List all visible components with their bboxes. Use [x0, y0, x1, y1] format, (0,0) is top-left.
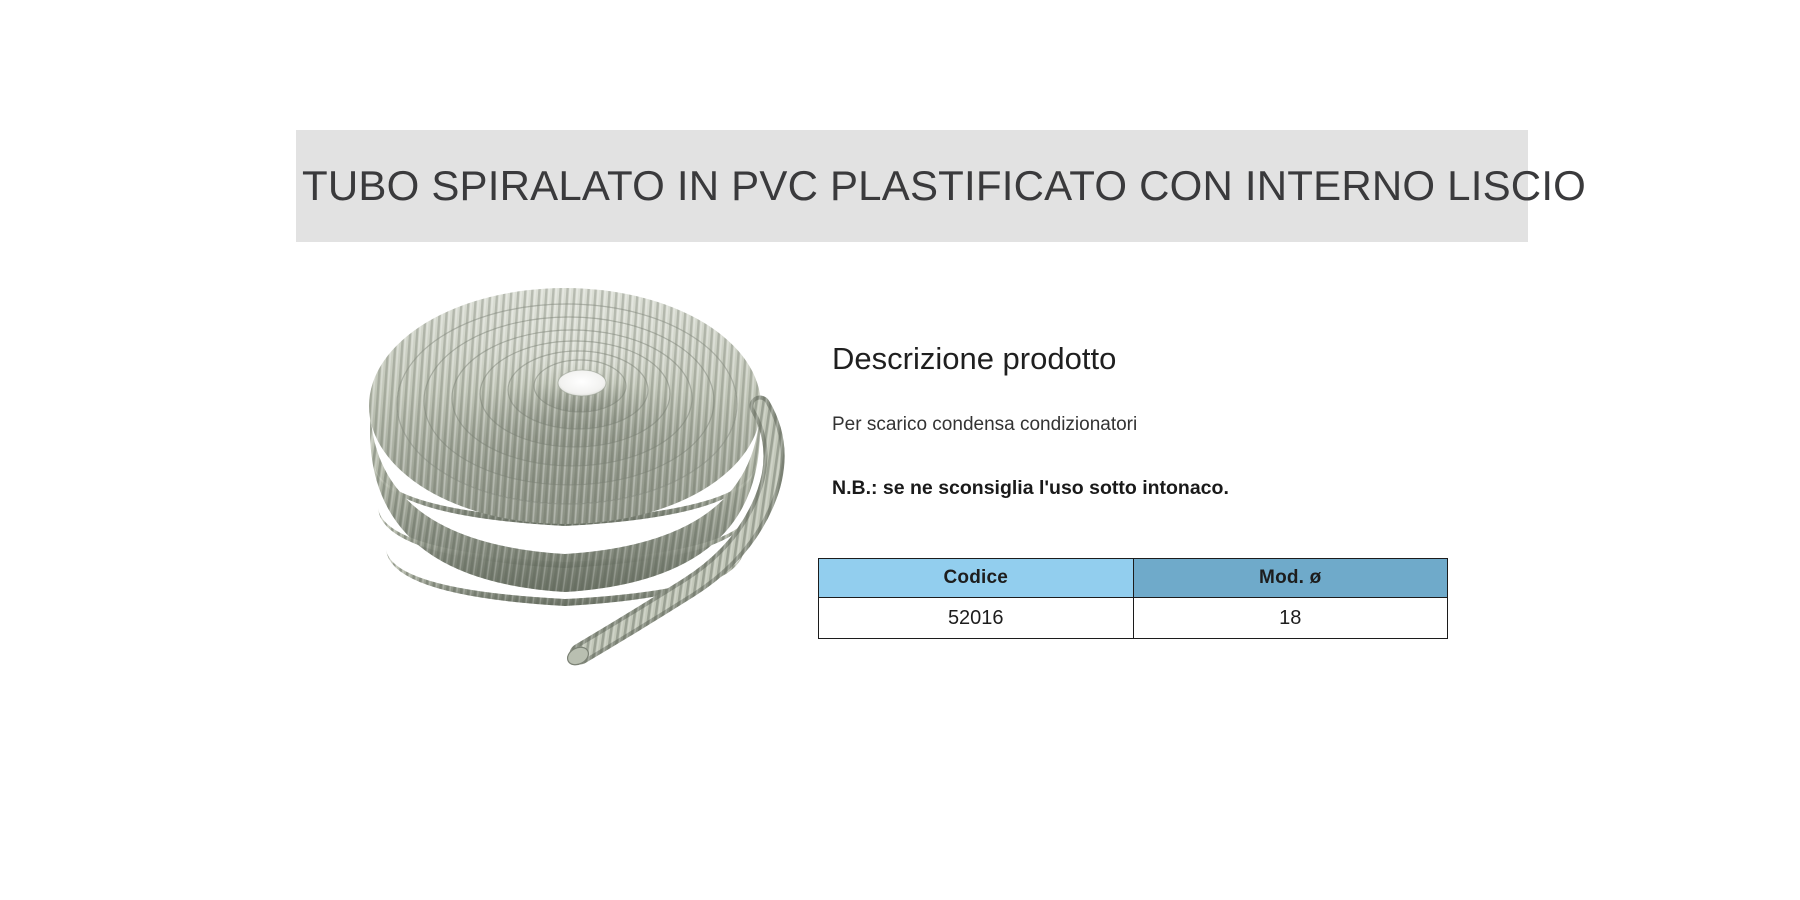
cell-mod-diameter: 18	[1133, 598, 1448, 639]
spec-table-container: Codice Mod. ø 52016 18	[818, 558, 1448, 639]
description-body: Per scarico condensa condizionatori	[832, 377, 1472, 438]
description-note: N.B.: se ne sconsiglia l'uso sotto inton…	[832, 438, 1472, 501]
product-description-section: Descrizione prodotto Per scarico condens…	[832, 340, 1472, 501]
column-header-mod-diameter: Mod. ø	[1133, 559, 1448, 598]
page-title: TUBO SPIRALATO IN PVC PLASTIFICATO CON I…	[302, 165, 1586, 207]
table-header-row: Codice Mod. ø	[819, 559, 1448, 598]
table-row: 52016 18	[819, 598, 1448, 639]
column-header-codice: Codice	[819, 559, 1134, 598]
coiled-hose-icon	[330, 258, 800, 688]
spec-table: Codice Mod. ø 52016 18	[818, 558, 1448, 639]
page-title-band: TUBO SPIRALATO IN PVC PLASTIFICATO CON I…	[296, 130, 1528, 242]
cell-codice: 52016	[819, 598, 1134, 639]
product-image	[330, 258, 800, 688]
description-heading: Descrizione prodotto	[832, 340, 1472, 377]
